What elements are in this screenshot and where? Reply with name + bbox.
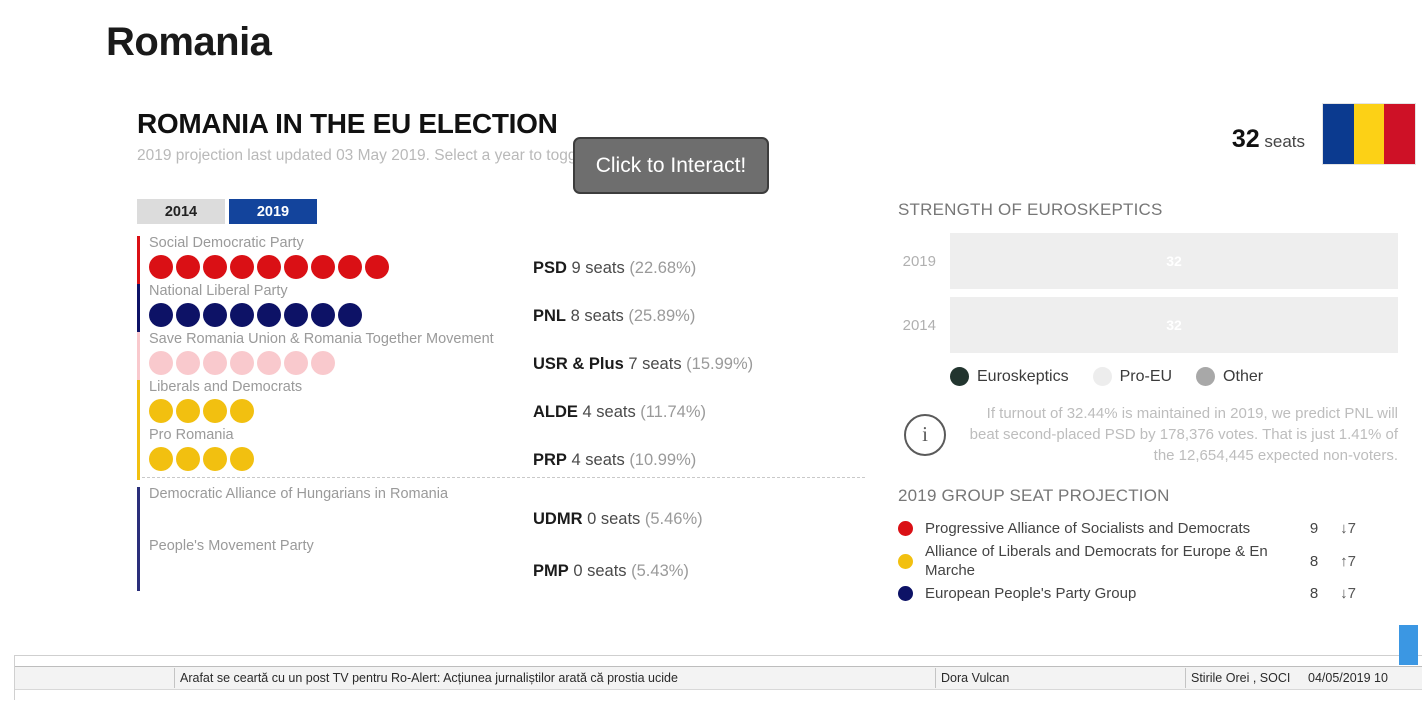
- seat-dot: [149, 303, 173, 327]
- legend-label: Pro-EU: [1120, 368, 1172, 386]
- group-seats: 9: [1297, 520, 1331, 537]
- seat-dot: [311, 351, 335, 375]
- euroskeptics-bar[interactable]: 32: [950, 297, 1398, 353]
- date-cell: 04/05/2019 10: [1308, 671, 1418, 685]
- seat-dot: [365, 255, 389, 279]
- party-left: Pro Romania: [137, 425, 533, 473]
- party-abbr: PSD: [533, 259, 567, 277]
- group-seat-change: ↑7: [1331, 553, 1365, 570]
- euroskeptics-bar[interactable]: 32: [950, 233, 1398, 289]
- seat-dot: [176, 447, 200, 471]
- party-color-bar: [137, 539, 140, 591]
- party-name: National Liberal Party: [149, 281, 533, 301]
- seat-dot: [176, 303, 200, 327]
- party-list-divider: [137, 477, 865, 478]
- bottom-browser-strip: Arafat se ceartă cu un post TV pentru Ro…: [0, 655, 1422, 701]
- group-seat-change: ↓7: [1331, 585, 1365, 602]
- seat-dot: [230, 351, 254, 375]
- party-row[interactable]: Democratic Alliance of Hungarians in Rom…: [137, 484, 877, 536]
- party-abbr: PRP: [533, 451, 567, 469]
- group-projection-list: Progressive Alliance of Socialists and D…: [898, 519, 1398, 603]
- flag-band-yellow: [1354, 104, 1385, 164]
- group-projection: 2019 GROUP SEAT PROJECTION Progressive A…: [898, 486, 1398, 603]
- party-seats: 8 seats: [566, 307, 628, 325]
- year-toggle[interactable]: 20142019: [137, 199, 317, 224]
- seat-dot: [203, 399, 227, 423]
- party-seats: 4 seats: [578, 403, 640, 421]
- party-seat-dots: [149, 558, 533, 584]
- euroskeptics-row: 201432: [898, 297, 1398, 353]
- euroskeptics-title: STRENGTH OF EUROSKEPTICS: [898, 200, 1398, 220]
- year-button-label: 2014: [165, 204, 197, 220]
- seat-dot: [203, 255, 227, 279]
- column-separator: [1185, 668, 1186, 688]
- party-row[interactable]: National Liberal PartyPNL 8 seats (25.89…: [137, 281, 877, 329]
- seat-dot: [176, 255, 200, 279]
- party-list-without-seats: Democratic Alliance of Hungarians in Rom…: [137, 484, 877, 588]
- party-percent: (25.89%): [628, 307, 695, 325]
- seat-dot: [284, 303, 308, 327]
- party-left: Liberals and Democrats: [137, 377, 533, 425]
- party-name: Democratic Alliance of Hungarians in Rom…: [149, 484, 533, 504]
- seat-total-number: 32: [1232, 125, 1260, 153]
- legend-item[interactable]: Pro-EU: [1093, 367, 1172, 386]
- seat-dot: [311, 303, 335, 327]
- seat-dot: [230, 399, 254, 423]
- party-left: People's Movement Party: [137, 536, 533, 588]
- party-color-bar: [137, 487, 140, 539]
- party-result: PMP 0 seats (5.43%): [533, 536, 689, 581]
- group-color-dot-icon: [898, 586, 913, 601]
- seat-dot: [311, 255, 335, 279]
- table-row[interactable]: Arafat se ceartă cu un post TV pentru Ro…: [0, 666, 1422, 690]
- group-color-dot-icon: [898, 521, 913, 536]
- info-icon: i: [904, 414, 946, 456]
- seat-dot: [203, 303, 227, 327]
- widget-title: ROMANIA IN THE EU ELECTION: [137, 108, 558, 140]
- legend-label: Euroskeptics: [977, 368, 1069, 386]
- flag-band-blue: [1323, 104, 1354, 164]
- party-list-with-seats: Social Democratic PartyPSD 9 seats (22.6…: [137, 233, 877, 473]
- party-seat-dots: [149, 399, 533, 425]
- party-result: UDMR 0 seats (5.46%): [533, 484, 703, 529]
- legend-label: Other: [1223, 368, 1263, 386]
- party-seat-dots: [149, 351, 533, 377]
- party-seat-dots: [149, 506, 533, 532]
- group-seats: 8: [1297, 553, 1331, 570]
- seat-total-label: seats: [1264, 132, 1305, 151]
- seat-dot: [338, 303, 362, 327]
- party-color-bar: [137, 428, 140, 480]
- seat-dot: [284, 255, 308, 279]
- source-cell: Stirile Orei , SOCI: [1191, 671, 1311, 685]
- seat-dot: [230, 303, 254, 327]
- party-percent: (10.99%): [629, 451, 696, 469]
- party-seat-dots: [149, 303, 533, 329]
- party-name: Pro Romania: [149, 425, 533, 445]
- seat-dot: [149, 351, 173, 375]
- party-abbr: USR & Plus: [533, 355, 624, 373]
- legend-item[interactable]: Other: [1196, 367, 1263, 386]
- seat-dot: [149, 255, 173, 279]
- seat-dot: [230, 255, 254, 279]
- party-row[interactable]: Save Romania Union & Romania Together Mo…: [137, 329, 877, 377]
- romania-flag-icon: [1322, 103, 1416, 165]
- seat-dot: [230, 447, 254, 471]
- euroskeptics-year-label: 2019: [898, 253, 950, 270]
- seat-dot: [257, 351, 281, 375]
- seat-dot: [176, 351, 200, 375]
- euroskeptics-year-label: 2014: [898, 317, 950, 334]
- group-projection-row[interactable]: Alliance of Liberals and Democrats for E…: [898, 542, 1398, 580]
- election-widget: ROMANIA IN THE EU ELECTION 2019 projecti…: [0, 95, 1422, 655]
- right-column: STRENGTH OF EUROSKEPTICS 201932201432 Eu…: [898, 200, 1398, 607]
- group-projection-title: 2019 GROUP SEAT PROJECTION: [898, 486, 1398, 506]
- party-result: PNL 8 seats (25.89%): [533, 281, 695, 326]
- party-row[interactable]: Liberals and DemocratsALDE 4 seats (11.7…: [137, 377, 877, 425]
- party-left: Democratic Alliance of Hungarians in Rom…: [137, 484, 533, 536]
- party-left: Save Romania Union & Romania Together Mo…: [137, 329, 533, 377]
- headline-cell: Arafat se ceartă cu un post TV pentru Ro…: [180, 671, 930, 685]
- seat-dot: [149, 447, 173, 471]
- party-row[interactable]: People's Movement PartyPMP 0 seats (5.43…: [137, 536, 877, 588]
- flag-band-red: [1384, 104, 1415, 164]
- party-percent: (5.43%): [631, 562, 689, 580]
- euroskeptics-bar-value: 32: [1166, 253, 1182, 269]
- euroskeptics-row: 201932: [898, 233, 1398, 289]
- party-percent: (15.99%): [686, 355, 753, 373]
- party-abbr: PNL: [533, 307, 566, 325]
- year-button-label: 2019: [257, 204, 289, 220]
- scrollbar-thumb[interactable]: [1399, 625, 1418, 665]
- seat-dot: [149, 399, 173, 423]
- column-separator: [174, 668, 175, 688]
- seat-dot: [203, 351, 227, 375]
- seat-dot: [338, 255, 362, 279]
- party-abbr: UDMR: [533, 510, 583, 528]
- click-to-interact-tooltip[interactable]: Click to Interact!: [573, 137, 769, 194]
- group-projection-row[interactable]: European People's Party Group8↓7: [898, 584, 1398, 603]
- party-name: Social Democratic Party: [149, 233, 533, 253]
- legend-item[interactable]: Euroskeptics: [950, 367, 1069, 386]
- party-abbr: ALDE: [533, 403, 578, 421]
- year-button-2014[interactable]: 2014: [137, 199, 225, 224]
- euroskeptics-bar-value: 32: [1166, 317, 1182, 333]
- page-title: Romania: [106, 20, 271, 65]
- party-name: People's Movement Party: [149, 536, 533, 556]
- party-name: Liberals and Democrats: [149, 377, 533, 397]
- legend-dot-icon: [950, 367, 969, 386]
- party-seat-dots: [149, 447, 533, 473]
- party-seats: 7 seats: [624, 355, 686, 373]
- column-separator: [935, 668, 936, 688]
- party-percent: (5.46%): [645, 510, 703, 528]
- euroskeptics-chart: 201932201432: [898, 233, 1398, 353]
- seat-total: 32 seats: [1232, 125, 1305, 154]
- info-text: If turnout of 32.44% is maintained in 20…: [962, 403, 1398, 466]
- group-label: Alliance of Liberals and Democrats for E…: [925, 542, 1297, 580]
- party-result: PRP 4 seats (10.99%): [533, 425, 696, 470]
- party-seats: 0 seats: [583, 510, 645, 528]
- info-box: i If turnout of 32.44% is maintained in …: [898, 403, 1398, 466]
- year-button-2019[interactable]: 2019: [229, 199, 317, 224]
- group-label: Progressive Alliance of Socialists and D…: [925, 519, 1297, 538]
- seat-dot: [284, 351, 308, 375]
- party-seats: 9 seats: [567, 259, 629, 277]
- seat-dot: [257, 255, 281, 279]
- group-projection-row[interactable]: Progressive Alliance of Socialists and D…: [898, 519, 1398, 538]
- euroskeptics-legend: EuroskepticsPro-EUOther: [898, 367, 1398, 386]
- seat-dot: [203, 447, 227, 471]
- party-name: Save Romania Union & Romania Together Mo…: [149, 329, 533, 349]
- seat-dot: [257, 303, 281, 327]
- party-left: National Liberal Party: [137, 281, 533, 329]
- group-color-dot-icon: [898, 554, 913, 569]
- party-result: PSD 9 seats (22.68%): [533, 233, 696, 278]
- party-left: Social Democratic Party: [137, 233, 533, 281]
- party-result: USR & Plus 7 seats (15.99%): [533, 329, 753, 374]
- party-result: ALDE 4 seats (11.74%): [533, 377, 706, 422]
- party-row[interactable]: Pro RomaniaPRP 4 seats (10.99%): [137, 425, 877, 473]
- author-cell: Dora Vulcan: [941, 671, 1181, 685]
- group-seat-change: ↓7: [1331, 520, 1365, 537]
- party-row[interactable]: Social Democratic PartyPSD 9 seats (22.6…: [137, 233, 877, 281]
- party-seats: 4 seats: [567, 451, 629, 469]
- seat-dot: [176, 399, 200, 423]
- party-abbr: PMP: [533, 562, 569, 580]
- party-seats: 0 seats: [569, 562, 631, 580]
- legend-dot-icon: [1196, 367, 1215, 386]
- party-percent: (22.68%): [629, 259, 696, 277]
- group-seats: 8: [1297, 585, 1331, 602]
- legend-dot-icon: [1093, 367, 1112, 386]
- party-percent: (11.74%): [640, 403, 706, 421]
- left-gutter: [0, 655, 15, 700]
- party-list: Social Democratic PartyPSD 9 seats (22.6…: [137, 233, 877, 588]
- party-seat-dots: [149, 255, 533, 281]
- group-label: European People's Party Group: [925, 584, 1297, 603]
